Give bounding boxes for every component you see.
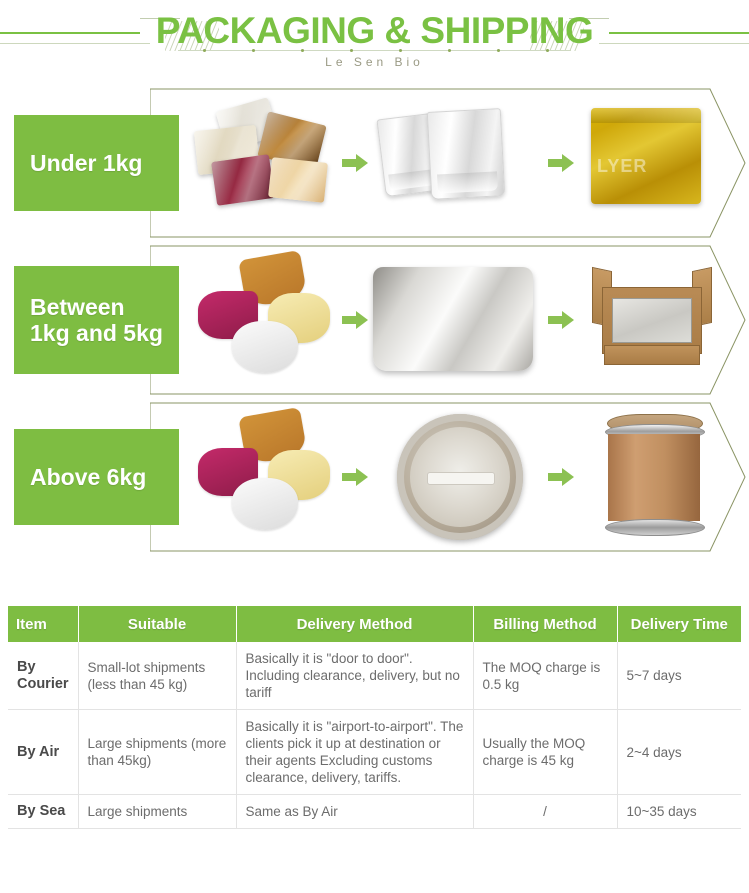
col-header-delivery-method: Delivery Method	[236, 606, 473, 642]
arrow-right-icon-6	[548, 468, 574, 486]
row-badge-1kg-5kg: Between 1kg and 5kg	[14, 266, 179, 374]
row-badge-above-6kg: Above 6kg	[14, 429, 179, 525]
page-title: PACKAGING & SHIPPING	[0, 8, 749, 54]
packaging-rows: Under 1kg	[0, 86, 749, 555]
arrow-right-icon-1	[342, 154, 368, 172]
stage-image-foil-bag	[365, 249, 550, 391]
cell-delivery-time: 2~4 days	[617, 710, 741, 795]
arrow-right-icon-3	[342, 311, 368, 329]
arrow-right-icon-5	[342, 468, 368, 486]
cell-billing-method: /	[473, 795, 617, 829]
cell-item: By Air	[8, 710, 78, 795]
cell-delivery-method: Same as By Air	[236, 795, 473, 829]
stage-image-loose-bags	[190, 92, 340, 234]
cell-item: By Sea	[8, 795, 78, 829]
cell-delivery-method: Basically it is "door to door". Includin…	[236, 642, 473, 710]
cell-suitable: Large shipments (more than 45kg)	[78, 710, 236, 795]
arrow-right-icon-4	[548, 311, 574, 329]
table-head: Item Suitable Delivery Method Billing Me…	[8, 606, 741, 642]
cell-delivery-time: 10~35 days	[617, 795, 741, 829]
stage-image-open-drum	[365, 406, 550, 548]
stage-image-sealed-drum	[575, 406, 735, 548]
col-header-delivery-time: Delivery Time	[617, 606, 741, 642]
stage-image-powder-fan-1	[190, 249, 340, 391]
cell-billing-method: Usually the MOQ charge is 45 kg	[473, 710, 617, 795]
col-header-suitable: Suitable	[78, 606, 236, 642]
cell-billing-method: The MOQ charge is 0.5 kg	[473, 642, 617, 710]
header-dot-rule	[178, 50, 571, 54]
col-header-item: Item	[8, 606, 78, 642]
packaging-row-above-6kg: Above 6kg	[0, 400, 749, 555]
table-row: By Courier Small-lot shipments (less tha…	[8, 642, 741, 710]
col-header-billing-method: Billing Method	[473, 606, 617, 642]
stage-image-powder-fan-2	[190, 406, 340, 548]
table-row: By Sea Large shipments Same as By Air / …	[8, 795, 741, 829]
cell-delivery-method: Basically it is "airport-to-airport". Th…	[236, 710, 473, 795]
table-body: By Courier Small-lot shipments (less tha…	[8, 642, 741, 829]
shipping-table: Item Suitable Delivery Method Billing Me…	[8, 606, 741, 829]
packaging-row-1kg-5kg: Between 1kg and 5kg	[0, 243, 749, 398]
table-header-row: Item Suitable Delivery Method Billing Me…	[8, 606, 741, 642]
row-badge-label-line2: 1kg and 5kg	[30, 320, 163, 346]
cell-suitable: Large shipments	[78, 795, 236, 829]
packaging-row-under-1kg: Under 1kg	[0, 86, 749, 241]
row-badge-label-line1: Between	[30, 294, 125, 320]
row-badge-under-1kg: Under 1kg	[14, 115, 179, 211]
stage-image-yellow-mailer: LYER	[575, 92, 735, 234]
brand-subtitle: Le Sen Bio	[0, 55, 749, 69]
stage-image-silver-pouches	[365, 92, 550, 234]
page-header: PACKAGING & SHIPPING Le Sen Bio	[0, 0, 749, 86]
cell-suitable: Small-lot shipments (less than 45 kg)	[78, 642, 236, 710]
row-badge-label: Above 6kg	[30, 464, 146, 490]
table-row: By Air Large shipments (more than 45kg) …	[8, 710, 741, 795]
cell-item: By Courier	[8, 642, 78, 710]
row-badge-label: Under 1kg	[30, 150, 142, 176]
shipping-table-wrapper: Item Suitable Delivery Method Billing Me…	[8, 606, 741, 829]
cell-delivery-time: 5~7 days	[617, 642, 741, 710]
arrow-right-icon-2	[548, 154, 574, 172]
stage-image-carton-box	[575, 249, 735, 391]
